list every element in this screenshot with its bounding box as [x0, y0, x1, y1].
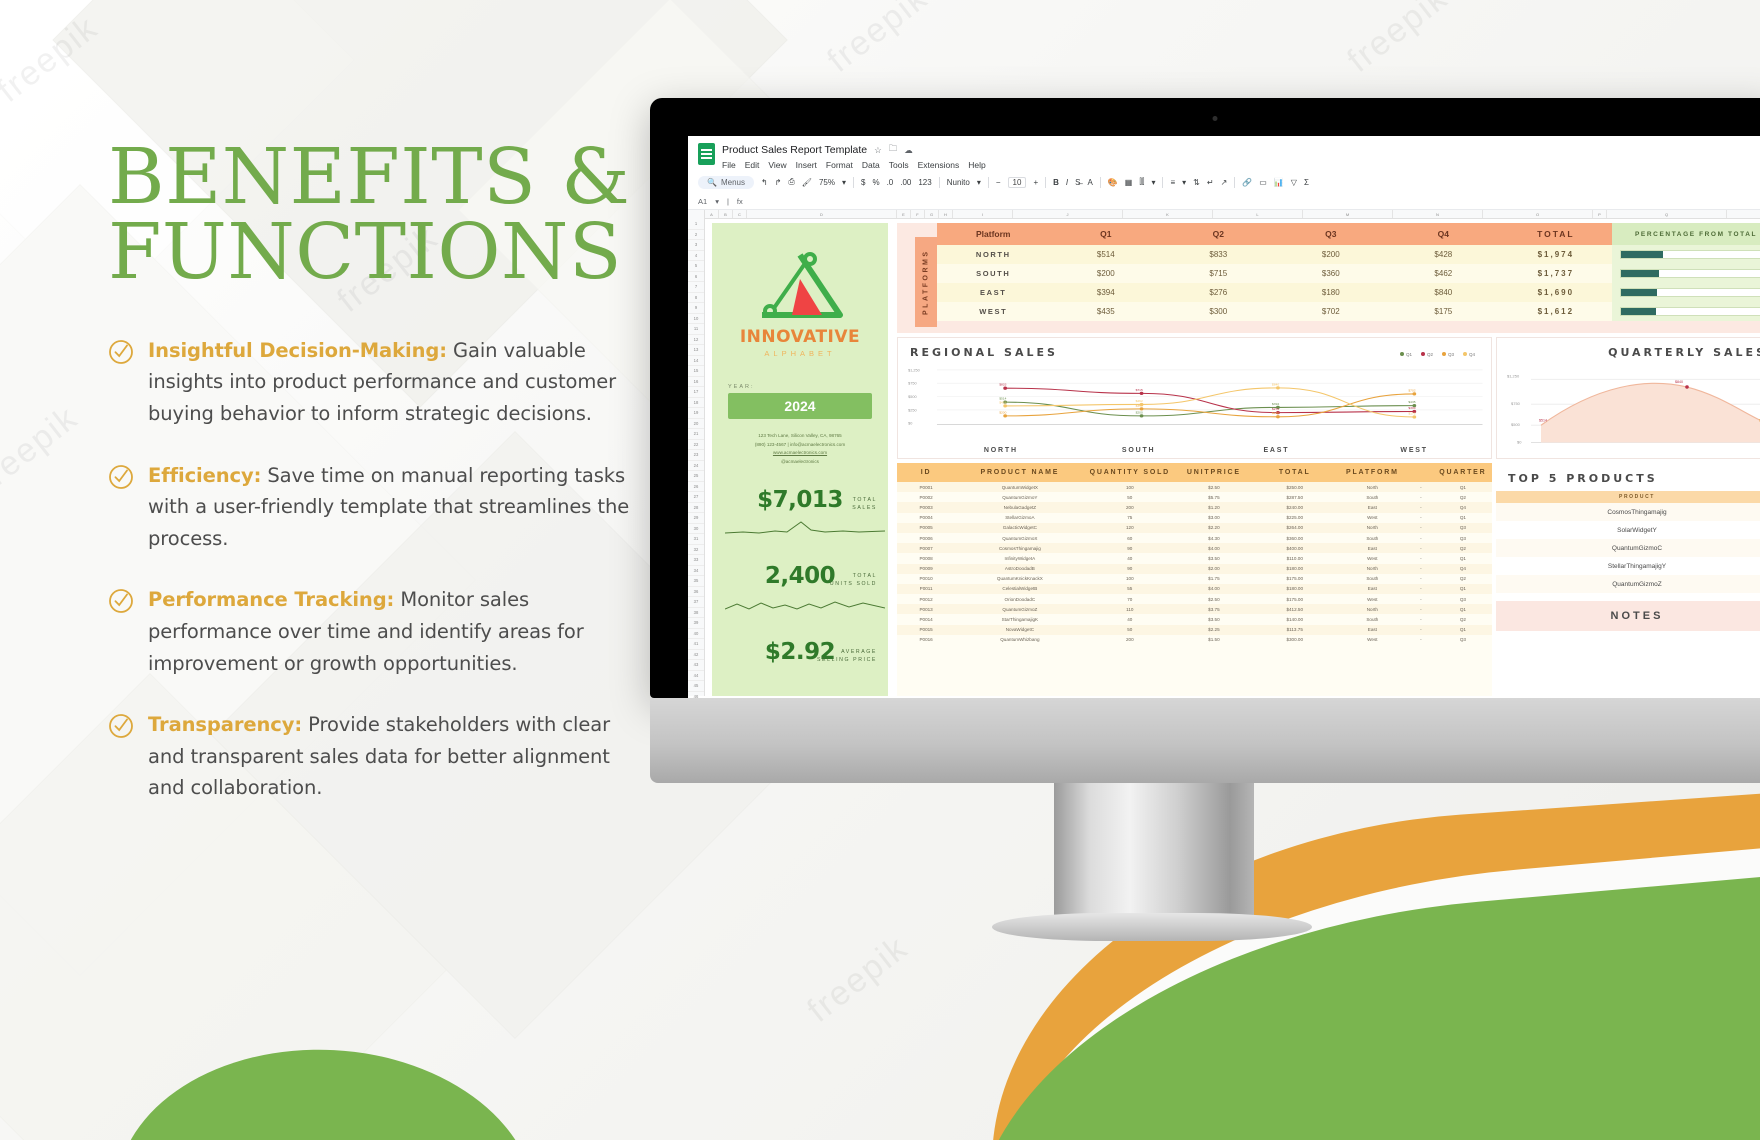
row-header[interactable]: 33: [688, 555, 704, 566]
quarterly-chart-svg: $1,250 $750 $500 $0 $840 $514 $300: [1497, 366, 1760, 452]
svg-text:$428: $428: [999, 401, 1006, 405]
column-header[interactable]: I: [953, 210, 1013, 218]
cell: QuantumGizmoX: [955, 533, 1084, 543]
column-header[interactable]: K: [1123, 210, 1213, 218]
cell: -: [1408, 533, 1434, 543]
cell-percentage: [1612, 283, 1760, 302]
percent-icon[interactable]: %: [872, 178, 879, 187]
table-row: P0003NebulaGadgetZ200$1.20$240.00East-Q4: [897, 502, 1492, 512]
cell: East: [1337, 584, 1408, 594]
column-header[interactable]: O: [1483, 210, 1593, 218]
content-column: BENEFITS & FUNCTIONS Insightful Decision…: [108, 140, 638, 834]
cell-platform: WEST: [937, 302, 1050, 321]
row-header[interactable]: 16: [688, 377, 704, 388]
list-item: StellarThingamajigY: [1496, 557, 1760, 575]
table-row: P0013QuantumGizmoZ110$3.75$412.50North-Q…: [897, 604, 1492, 614]
cell: StarThingamajigK: [955, 614, 1084, 624]
th-q4: Q4: [1387, 223, 1500, 245]
text-wrap-icon[interactable]: ↵: [1207, 178, 1214, 187]
name-box-chevron-down-icon[interactable]: ▾: [715, 197, 719, 206]
cell: -: [1408, 543, 1434, 553]
column-header[interactable]: A: [705, 210, 719, 218]
cell: NebulaGadgetZ: [955, 502, 1084, 512]
cell: 100: [1085, 574, 1176, 584]
row-header[interactable]: 24: [688, 461, 704, 472]
sheet-grid: 1234567891011121314151617181920212223242…: [688, 210, 1760, 696]
font-size-decrease-button[interactable]: −: [996, 178, 1001, 187]
cell: North: [1337, 523, 1408, 533]
regional-chart-svg: $1,250$750$500$250$0$514$200$394$435$833…: [898, 364, 1491, 438]
cell: NovaWidgetC: [955, 625, 1084, 635]
cell: 50: [1085, 625, 1176, 635]
row-header[interactable]: 26: [688, 482, 704, 493]
row-header[interactable]: 35: [688, 576, 704, 587]
svg-text:$462: $462: [1136, 399, 1143, 403]
vertical-align-icon[interactable]: ⇅: [1193, 178, 1200, 187]
row-header[interactable]: 20: [688, 419, 704, 430]
cell: -: [1408, 492, 1434, 502]
column-header[interactable]: L: [1213, 210, 1303, 218]
row-header[interactable]: 40: [688, 629, 704, 640]
row-header[interactable]: 9: [688, 303, 704, 314]
stat-total-units: 2,400 TOTALUNITS SOLD: [712, 563, 888, 619]
th-blank: [1408, 463, 1434, 482]
cell: CelestialWidgetB: [955, 584, 1084, 594]
year-block: YEAR: 2024: [728, 384, 872, 419]
address-line: 123 Tech Lane, Silicon Valley, CA, 98765: [712, 432, 888, 441]
cell: -: [1408, 635, 1434, 645]
svg-text:$750: $750: [908, 382, 916, 386]
address-website[interactable]: www.acmaelectronics.com: [712, 449, 888, 458]
th-id: ID: [897, 463, 955, 482]
cell: 90: [1085, 564, 1176, 574]
progress-bar-fill: [1621, 289, 1657, 296]
cell: $2.20: [1175, 523, 1253, 533]
cell: $2.00: [1175, 564, 1253, 574]
merge-chevron-down-icon[interactable]: ▾: [1151, 178, 1155, 187]
cell: East: [1337, 625, 1408, 635]
cell: P0002: [897, 492, 955, 502]
watermark: freepik: [800, 928, 915, 1030]
row-header[interactable]: 42: [688, 650, 704, 661]
row-header[interactable]: 25: [688, 471, 704, 482]
report-side-panel: INNOVATIVE ALPHABET YEAR: 2024 123 Tech …: [712, 223, 888, 696]
row-header[interactable]: 31: [688, 534, 704, 545]
strikethrough-icon[interactable]: S̶: [1075, 178, 1080, 187]
cell: OrionDoodadC: [955, 594, 1084, 604]
row-header[interactable]: 32: [688, 545, 704, 556]
cell: 70: [1085, 594, 1176, 604]
svg-text:$500: $500: [908, 395, 916, 399]
list-item: SolarWidgetY: [1496, 521, 1760, 539]
cell-q4: $840: [1387, 283, 1500, 302]
list-item: Insightful Decision-Making: Gain valuabl…: [108, 335, 638, 430]
font-size-input[interactable]: 10: [1008, 177, 1027, 188]
legend-q3: Q3: [1442, 352, 1454, 357]
cell: Q1: [1434, 584, 1492, 594]
column-header[interactable]: Q: [1607, 210, 1727, 218]
cell: West: [1337, 553, 1408, 563]
monitor-base: [650, 698, 1760, 783]
cell: StellarGizmoA: [955, 513, 1084, 523]
svg-text:$180: $180: [1272, 411, 1279, 415]
decimal-increase-icon[interactable]: .00: [900, 178, 911, 187]
watermark: freepik: [820, 0, 935, 81]
watermark: freepik: [1340, 0, 1455, 81]
column-header[interactable]: D: [747, 210, 897, 218]
list-item: Efficiency: Save time on manual reportin…: [108, 460, 638, 555]
cell: $400.00: [1253, 543, 1337, 553]
decimal-decrease-icon[interactable]: .0: [887, 178, 894, 187]
svg-text:$394: $394: [1272, 402, 1279, 406]
cell: West: [1337, 594, 1408, 604]
undo-icon[interactable]: ↰: [761, 178, 768, 187]
fill-color-icon[interactable]: 🎨: [1108, 178, 1118, 187]
year-value[interactable]: 2024: [728, 393, 872, 419]
cell: P0001: [897, 482, 955, 492]
row-header[interactable]: 12: [688, 335, 704, 346]
column-header[interactable]: N: [1393, 210, 1483, 218]
row-header[interactable]: 14: [688, 356, 704, 367]
row-header[interactable]: 44: [688, 671, 704, 682]
menu-help[interactable]: Help: [968, 160, 985, 170]
cell: -: [1408, 482, 1434, 492]
align-chevron-down-icon[interactable]: ▾: [1182, 178, 1186, 187]
table-row: EAST$394$276$180$840$1,690: [937, 283, 1760, 302]
table-row: P0011CelestialWidgetB55$4.00$180.00East-…: [897, 584, 1492, 594]
menu-data[interactable]: Data: [862, 160, 880, 170]
cell: $175.00: [1253, 594, 1337, 604]
font-chevron-down-icon[interactable]: ▾: [977, 178, 981, 187]
file-name[interactable]: Product Sales Report Template: [722, 144, 867, 156]
monitor-foot: [992, 913, 1312, 941]
column-headers[interactable]: ABCDEFGHIJKLMNOPQ: [705, 210, 1760, 219]
column-header[interactable]: B: [719, 210, 733, 218]
text-color-icon[interactable]: A: [1087, 178, 1092, 187]
list-item-label: Insightful Decision-Making:: [148, 339, 447, 362]
notes-box: NOTES: [1496, 601, 1760, 631]
menu-tools[interactable]: Tools: [889, 160, 909, 170]
cell: North: [1337, 564, 1408, 574]
cell: $2.50: [1175, 482, 1253, 492]
table-row: P0007CosmosThingamajig90$4.00$400.00East…: [897, 543, 1492, 553]
sparkline-icon: [725, 516, 885, 538]
grid-area: ABCDEFGHIJKLMNOPQ: [705, 210, 1760, 696]
cell-total: $1,974: [1500, 245, 1613, 264]
row-header[interactable]: 6: [688, 272, 704, 283]
cell: Q1: [1434, 604, 1492, 614]
cell-q1: $514: [1050, 245, 1163, 264]
list-item: QuantumGizmoZ: [1496, 575, 1760, 593]
cell: 75: [1085, 513, 1176, 523]
legend-q1: Q1: [1400, 352, 1412, 357]
cell: AstroDoodadB: [955, 564, 1084, 574]
th-q1: Q1: [1050, 223, 1163, 245]
link-icon[interactable]: 🔗: [1242, 178, 1252, 187]
cell: South: [1337, 574, 1408, 584]
table-row: P0008InfinityWidgetA40$3.50$110.00West-Q…: [897, 553, 1492, 563]
comment-icon[interactable]: ▭: [1259, 178, 1267, 187]
svg-text:$276: $276: [1272, 407, 1279, 411]
column-header[interactable]: J: [1013, 210, 1123, 218]
progress-bar-fill: [1621, 270, 1658, 277]
row-header[interactable]: 17: [688, 387, 704, 398]
divider: [1100, 177, 1101, 188]
table-row: P0006QuantumGizmoX60$4.30$360.00South-Q3: [897, 533, 1492, 543]
cell-q4: $462: [1387, 264, 1500, 283]
svg-text:$833: $833: [999, 383, 1006, 387]
address-social: @acmaelectronics: [712, 458, 888, 467]
table-body: P0001QuantumWidgetX100$2.50$250.00North-…: [897, 482, 1492, 645]
th-q3: Q3: [1275, 223, 1388, 245]
list-item: QuantumGizmoC: [1496, 539, 1760, 557]
number-format-icon[interactable]: 123: [918, 178, 931, 187]
font-family-select[interactable]: Nunito: [947, 178, 970, 187]
cell-q3: $702: [1275, 302, 1388, 321]
panel-title: TOP 5 PRODUCTS: [1496, 463, 1760, 485]
table-header-row: ID PRODUCT NAME QUANTITY SOLD UNITPRICE …: [897, 463, 1492, 482]
cell: $2.25: [1175, 625, 1253, 635]
cell: QuantumKnickKnackX: [955, 574, 1084, 584]
brand-name: INNOVATIVE: [712, 327, 888, 347]
star-icon[interactable]: ☆: [874, 145, 882, 156]
menu-edit[interactable]: Edit: [745, 160, 760, 170]
cell: South: [1337, 492, 1408, 502]
sheets-header: Product Sales Report Template ☆ 🗀 ☁ File…: [688, 136, 1760, 170]
row-header[interactable]: 19: [688, 408, 704, 419]
align-icon[interactable]: ≡: [1170, 178, 1175, 187]
row-header[interactable]: 2: [688, 230, 704, 241]
cell: $412.50: [1253, 604, 1337, 614]
innovative-alphabet-logo-icon: [748, 249, 852, 321]
cell: P0012: [897, 594, 955, 604]
cell-percentage: [1612, 302, 1760, 321]
row-header[interactable]: 18: [688, 398, 704, 409]
cell: Q1: [1434, 553, 1492, 563]
row-header[interactable]: 28: [688, 503, 704, 514]
cell: P0015: [897, 625, 955, 635]
cell-percentage: [1612, 264, 1760, 283]
cell: P0010: [897, 574, 955, 584]
cell: $1.20: [1175, 502, 1253, 512]
list-item-label: Transparency:: [148, 713, 302, 736]
cloud-icon[interactable]: ☁: [904, 145, 913, 156]
cell: P0013: [897, 604, 955, 614]
menu-view[interactable]: View: [768, 160, 786, 170]
cell-q2: $715: [1162, 264, 1275, 283]
bold-icon[interactable]: B: [1053, 178, 1059, 187]
cell: Q3: [1434, 533, 1492, 543]
th-product: PRODUCT NAME: [955, 463, 1084, 482]
cell: Q3: [1434, 594, 1492, 604]
stat-label: TOTALSALES: [852, 496, 877, 513]
svg-text:$0: $0: [908, 422, 912, 426]
row-header[interactable]: 37: [688, 597, 704, 608]
chart-icon[interactable]: 📊: [1274, 178, 1284, 187]
merge-cells-icon[interactable]: ⫿⫿: [1139, 177, 1144, 187]
row-header[interactable]: 23: [688, 450, 704, 461]
column-header[interactable]: G: [925, 210, 939, 218]
zoom-level[interactable]: 75%: [819, 178, 835, 187]
cell: Q2: [1434, 614, 1492, 624]
th-platform: PLATFORM: [1337, 463, 1408, 482]
check-circle-icon: [108, 713, 138, 744]
cell: $1.75: [1175, 574, 1253, 584]
cell-q3: $360: [1275, 264, 1388, 283]
svg-text:$514: $514: [1539, 418, 1547, 422]
column-header[interactable]: H: [939, 210, 953, 218]
menu-file[interactable]: File: [722, 160, 736, 170]
svg-text:$300: $300: [1408, 406, 1415, 410]
row-header[interactable]: 45: [688, 681, 704, 692]
cell: -: [1408, 584, 1434, 594]
cell: $3.50: [1175, 553, 1253, 563]
cell: -: [1408, 564, 1434, 574]
name-box[interactable]: A1: [698, 197, 707, 206]
row-header[interactable]: 39: [688, 618, 704, 629]
row-header[interactable]: 36: [688, 587, 704, 598]
move-folder-icon[interactable]: 🗀: [889, 143, 898, 157]
row-header[interactable]: 29: [688, 513, 704, 524]
th-total: TOTAL: [1500, 223, 1613, 245]
row-header[interactable]: 15: [688, 366, 704, 377]
menu-extensions[interactable]: Extensions: [918, 160, 960, 170]
svg-text:$0: $0: [1517, 439, 1522, 444]
column-header[interactable]: M: [1303, 210, 1393, 218]
cell: $5.75: [1175, 492, 1253, 502]
cell: Q4: [1434, 502, 1492, 512]
table-row: WEST$435$300$702$175$1,612: [937, 302, 1760, 321]
cell: CosmosThingamajig: [955, 543, 1084, 553]
svg-text:$200: $200: [1136, 411, 1143, 415]
cell-total: $1,737: [1500, 264, 1613, 283]
filter-icon[interactable]: ▽: [1291, 178, 1297, 187]
cell-q1: $435: [1050, 302, 1163, 321]
column-header[interactable]: P: [1593, 210, 1607, 218]
zoom-chevron-down-icon[interactable]: ▾: [842, 178, 846, 187]
table-row: P0015NovaWidgetC50$2.25$113.75East-Q1: [897, 625, 1492, 635]
row-header[interactable]: 10: [688, 314, 704, 325]
print-icon[interactable]: ⎙: [788, 177, 794, 187]
list-item: Performance Tracking: Monitor sales perf…: [108, 584, 638, 679]
svg-text:$200: $200: [999, 411, 1006, 415]
cell: 90: [1085, 543, 1176, 553]
list-item-label: Performance Tracking:: [148, 588, 394, 611]
table-row: P0005GalacticWidgetC120$2.20$264.00North…: [897, 523, 1492, 533]
progress-bar: [1620, 250, 1760, 259]
th-q2: Q2: [1162, 223, 1275, 245]
table-body: NORTH$514$833$200$428$1,974SOUTH$200$715…: [937, 245, 1760, 321]
cell: GalacticWidgetC: [955, 523, 1084, 533]
cell: Q1: [1434, 513, 1492, 523]
currency-icon[interactable]: $: [861, 178, 865, 187]
borders-icon[interactable]: ▦: [1125, 178, 1133, 187]
row-header[interactable]: 8: [688, 293, 704, 304]
redo-icon[interactable]: ↱: [775, 178, 782, 187]
row-header[interactable]: 34: [688, 566, 704, 577]
row-header[interactable]: 4: [688, 251, 704, 262]
menu-insert[interactable]: Insert: [796, 160, 817, 170]
menu-format[interactable]: Format: [826, 160, 853, 170]
column-header[interactable]: E: [897, 210, 911, 218]
row-header[interactable]: 11: [688, 324, 704, 335]
cell: P0003: [897, 502, 955, 512]
product-data-table: ID PRODUCT NAME QUANTITY SOLD UNITPRICE …: [897, 463, 1492, 696]
google-sheets-icon: [698, 143, 715, 165]
row-header[interactable]: 5: [688, 261, 704, 272]
cell-total: $1,690: [1500, 283, 1613, 302]
search-menus-button[interactable]: 🔍 Menus: [698, 176, 754, 189]
cell: Q3: [1434, 523, 1492, 533]
row-header[interactable]: 21: [688, 429, 704, 440]
cell: Q2: [1434, 574, 1492, 584]
row-header[interactable]: 3: [688, 240, 704, 251]
row-header[interactable]: 43: [688, 660, 704, 671]
cell: East: [1337, 543, 1408, 553]
italic-icon[interactable]: I: [1066, 178, 1068, 187]
progress-bar: [1620, 269, 1760, 278]
cell: Q1: [1434, 625, 1492, 635]
table-row: P0009AstroDoodadB90$2.00$180.00North-Q4: [897, 564, 1492, 574]
cell-q3: $180: [1275, 283, 1388, 302]
cell: $4.00: [1175, 543, 1253, 553]
cell: 50: [1085, 492, 1176, 502]
paint-format-icon[interactable]: 🖌: [802, 178, 812, 187]
cell: $225.00: [1253, 513, 1337, 523]
svg-text:$1,250: $1,250: [1507, 374, 1520, 379]
cell: 120: [1085, 523, 1176, 533]
cell: $180.00: [1253, 584, 1337, 594]
row-header[interactable]: 22: [688, 440, 704, 451]
column-header[interactable]: F: [911, 210, 925, 218]
cell: P0006: [897, 533, 955, 543]
cell-platform: EAST: [937, 283, 1050, 302]
quarterly-sales-chart: QUARTERLY SALES $1,250 $750 $500 $0: [1496, 337, 1760, 459]
column-header[interactable]: C: [733, 210, 747, 218]
cell: 110: [1085, 604, 1176, 614]
menu-bar: File Edit View Insert Format Data Tools …: [722, 160, 986, 170]
row-header[interactable]: 27: [688, 492, 704, 503]
text-rotation-icon[interactable]: ↗: [1221, 178, 1228, 187]
year-label: YEAR:: [728, 384, 872, 390]
font-size-increase-button[interactable]: +: [1033, 178, 1038, 187]
row-header[interactable]: 1: [688, 219, 704, 230]
cell-q1: $394: [1050, 283, 1163, 302]
cell: $4.00: [1175, 584, 1253, 594]
fx-icon: fx: [737, 197, 743, 206]
row-header[interactable]: 30: [688, 524, 704, 535]
list-item-label: Efficiency:: [148, 464, 261, 487]
row-header[interactable]: 13: [688, 345, 704, 356]
cell: Q2: [1434, 543, 1492, 553]
benefits-list: Insightful Decision-Making: Gain valuabl…: [108, 335, 638, 804]
address-phone: (890) 123-4567 | info@acmaelectronics.co…: [712, 441, 888, 450]
cell: West: [1337, 513, 1408, 523]
functions-icon[interactable]: Σ: [1304, 178, 1309, 187]
row-headers[interactable]: 1234567891011121314151617181920212223242…: [688, 210, 705, 696]
row-header[interactable]: 7: [688, 282, 704, 293]
cell-q1: $200: [1050, 264, 1163, 283]
row-header[interactable]: 38: [688, 608, 704, 619]
row-header[interactable]: 41: [688, 639, 704, 650]
progress-bar-fill: [1621, 251, 1663, 258]
cell: $3.75: [1175, 604, 1253, 614]
webcam-icon: [1213, 116, 1218, 121]
cell: QuantumGizmoY: [955, 492, 1084, 502]
cell: -: [1408, 614, 1434, 624]
monitor-neck: [1054, 783, 1254, 918]
cell: 40: [1085, 553, 1176, 563]
